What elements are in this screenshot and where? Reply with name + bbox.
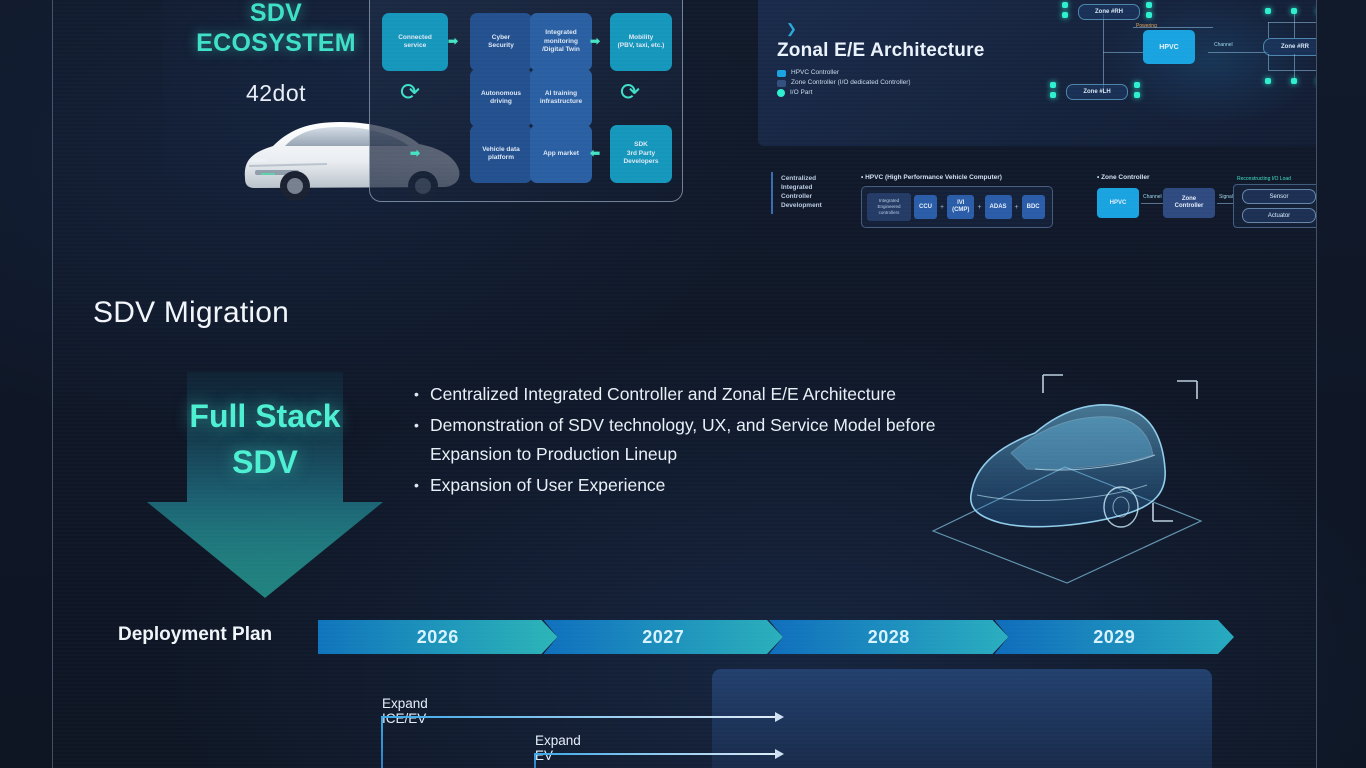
- ecosystem-title: SDV ECOSYSTEM: [181, 0, 371, 58]
- grid-cell-integrated-monitoring[interactable]: Integratedmonitoring/Digital Twin: [530, 13, 592, 71]
- grid-cell-label: Connectedservice: [398, 34, 432, 51]
- hpvc-chip-ccu: CCU: [914, 195, 937, 219]
- timeline-year-label: 2027: [642, 627, 684, 648]
- expand-ev-stem: [534, 753, 536, 768]
- grid-cell-mobility[interactable]: Mobility(PBV, taxi, etc.): [610, 13, 672, 71]
- sensor-pill: Sensor: [1242, 189, 1316, 204]
- grid-cell-connected-service[interactable]: Connectedservice: [382, 13, 448, 71]
- channel-label: Channel: [1143, 194, 1162, 200]
- ecosystem-title-line1: SDV: [250, 0, 302, 27]
- grid-cell-label: Mobility(PBV, taxi, etc.): [618, 34, 665, 51]
- hpvc-component-group: IntegratedEngineeredcontrollers CCU + IV…: [861, 186, 1053, 228]
- timeline-year-label: 2026: [417, 627, 459, 648]
- grid-cell-label: CyberSecurity: [488, 34, 514, 51]
- grid-cell-label: SDK3rd PartyDevelopers: [623, 141, 658, 167]
- zonal-title: Zonal E/E Architecture: [777, 40, 984, 62]
- grid-cell-label: AI traininginfrastructure: [540, 90, 582, 107]
- expand-ice-ev-arrow-line: [381, 716, 779, 718]
- zone-box-rr: Zone #RR: [1263, 38, 1316, 56]
- grid-cell-app-market[interactable]: App market: [530, 125, 592, 183]
- timeline-year-label: 2029: [1093, 627, 1135, 648]
- page-title: SDV Migration: [93, 296, 289, 330]
- hpvc-chip-adas: ADAS: [985, 195, 1012, 219]
- zone-box-rh: Zone #RH: [1078, 4, 1140, 20]
- full-stack-sdv-label: Full Stack SDV: [147, 393, 383, 485]
- sensor-actuator-group: Sensor Actuator: [1233, 184, 1316, 228]
- presentation-slide: SDV ECOSYSTEM 42dot: [0, 0, 1366, 768]
- grid-cell-label: Vehicle dataplatform: [482, 146, 520, 163]
- hpvc-label: HPVC: [1159, 44, 1178, 51]
- legend-item: I/O Part: [777, 89, 911, 97]
- signal-label: Signal: [1219, 194, 1233, 200]
- grid-cell-label: App market: [543, 150, 579, 159]
- actuator-pill: Actuator: [1242, 208, 1316, 223]
- zone-strip-hpvc-box: HPVC: [1097, 188, 1139, 218]
- arrow-label-line2: SDV: [232, 444, 298, 480]
- timeline-segment-2028[interactable]: 2028: [769, 620, 1009, 654]
- hpvc-box: HPVC: [1143, 30, 1195, 64]
- expand-ev-arrow-line: [534, 753, 779, 755]
- expand-ice-ev-label: Expand ICE/EV: [382, 696, 428, 726]
- refresh-cycle-icon: ⟳: [620, 81, 640, 105]
- zone-label: Zone #RR: [1281, 44, 1309, 50]
- legend-label: Zone Controller (I/O dedicated Controlle…: [791, 79, 911, 87]
- left-arrow-icon: ⬅: [590, 147, 600, 159]
- zone-label: Zone #LH: [1083, 89, 1110, 95]
- hpvc-heading: • HPVC (High Performance Vehicle Compute…: [861, 174, 1002, 181]
- bullet-marker: •: [414, 471, 430, 500]
- zone-box-lh: Zone #LH: [1066, 84, 1128, 100]
- expand-ice-ev-stem: [381, 716, 383, 768]
- legend-label: HPVC Controller: [791, 69, 839, 77]
- timeline-segment-2027[interactable]: 2027: [544, 620, 784, 654]
- right-arrow-icon: ➡: [448, 35, 458, 47]
- legend-swatch-zone: [777, 80, 786, 87]
- wireframe-car-hologram: [915, 345, 1215, 590]
- refresh-cycle-icon: ⟳: [400, 81, 420, 105]
- hpvc-chip-ivi: IVI(CMP): [947, 195, 974, 219]
- expand-ev-arrowhead: [775, 749, 784, 759]
- zone-controller-strip: • Zone Controller HPVC ZoneController Ch…: [1071, 172, 1316, 230]
- deployment-plan-label: Deployment Plan: [118, 624, 272, 646]
- timeline-segment-2026[interactable]: 2026: [318, 620, 558, 654]
- expand-ev-label: Expand EV: [535, 733, 581, 763]
- ecosystem-grid-panel: Connectedservice CyberSecurity Integrate…: [369, 0, 683, 202]
- legend-item: Zone Controller (I/O dedicated Controlle…: [777, 79, 911, 87]
- arrow-label-line1: Full Stack: [189, 398, 340, 434]
- grid-cell-label: Integratedmonitoring/Digital Twin: [542, 29, 580, 55]
- strip-accent-bar: [771, 172, 773, 214]
- right-arrow-icon: ➡: [590, 35, 600, 47]
- right-arrow-icon: ➡: [410, 147, 420, 159]
- zone-strip-controller-box: ZoneController: [1163, 188, 1215, 218]
- plus-icon: +: [1015, 204, 1019, 211]
- grid-cell-sdk-3rd-party[interactable]: SDK3rd PartyDevelopers: [610, 125, 672, 183]
- zonal-diagram: Zone #RH Zone #LH HPVC Powering Channel …: [1018, 0, 1316, 124]
- centralized-controller-strip: CentralizedIntegratedControllerDevelopme…: [771, 172, 1041, 230]
- legend-item: HPVC Controller: [777, 69, 911, 77]
- io-load-heading: Reconstructing I/O Load: [1237, 176, 1291, 182]
- grid-cell-cyber-security[interactable]: CyberSecurity: [470, 13, 532, 71]
- timeline-year-label: 2028: [868, 627, 910, 648]
- bottom-highlight-panel: [712, 669, 1212, 768]
- grid-cell-autonomous-driving[interactable]: Autonomousdriving: [470, 69, 532, 127]
- powering-label: Powering: [1136, 23, 1157, 29]
- plus-icon: +: [977, 204, 981, 211]
- timeline-segment-2029[interactable]: 2029: [995, 620, 1235, 654]
- grid-cell-vehicle-data-platform[interactable]: Vehicle dataplatform: [470, 125, 532, 183]
- legend-label: I/O Part: [790, 89, 812, 97]
- bullet-marker: •: [414, 411, 430, 469]
- legend-swatch-hpvc: [777, 70, 786, 77]
- zone-label: Zone #RH: [1095, 9, 1123, 15]
- grid-cell-ai-training[interactable]: AI traininginfrastructure: [530, 69, 592, 127]
- hpvc-chip-bdc: BDC: [1022, 195, 1045, 219]
- right-frame-rule: [1316, 0, 1317, 768]
- chevron-down-icon: ❯: [786, 22, 797, 35]
- centralized-controller-title: CentralizedIntegratedControllerDevelopme…: [781, 174, 822, 210]
- zone-controller-heading: • Zone Controller: [1097, 174, 1149, 181]
- expand-ice-ev-arrowhead: [775, 712, 784, 722]
- legend-swatch-io: [777, 89, 785, 97]
- bullet-marker: •: [414, 380, 430, 409]
- top-band: SDV ECOSYSTEM 42dot: [53, 0, 1316, 240]
- zonal-legend: HPVC Controller Zone Controller (I/O ded…: [777, 69, 911, 99]
- grid-cell-label: Autonomousdriving: [481, 90, 521, 107]
- plus-icon: +: [940, 204, 944, 211]
- hpvc-subnote: IntegratedEngineeredcontrollers: [867, 193, 911, 221]
- ecosystem-title-line2: ECOSYSTEM: [196, 29, 356, 57]
- channel-label: Channel: [1214, 42, 1233, 48]
- deployment-timeline: 2026 2027 2028 2029: [318, 620, 1234, 654]
